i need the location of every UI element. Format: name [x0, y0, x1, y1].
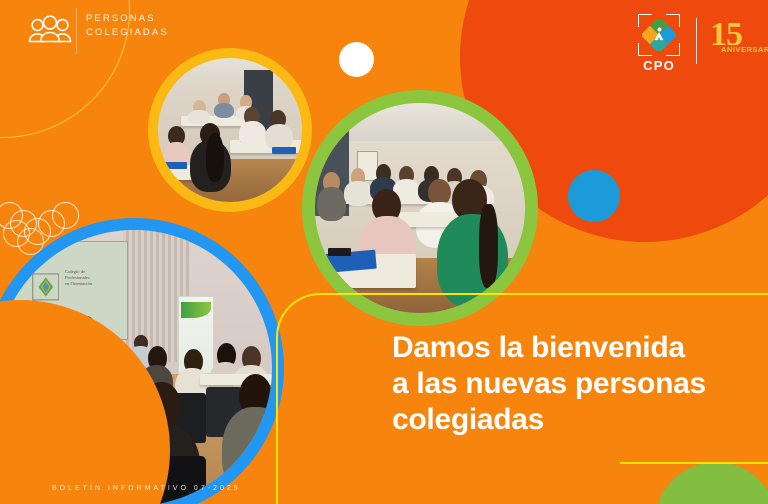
anniversary-label: ANIVERSARIO	[721, 45, 768, 54]
photo-center	[315, 103, 525, 313]
header-title: PERSONAS COLEGIADAS	[86, 12, 169, 39]
cpo-acronym: CPO	[632, 58, 686, 73]
anniversary-badge: 15 ANIVERSARIO	[710, 20, 768, 68]
outline-circles-decoration	[0, 202, 96, 268]
header-title-line2: COLEGIADAS	[86, 26, 169, 40]
bulletin-footer: BOLETÍN INFORMATIVO 07-2025	[52, 485, 241, 492]
cpo-logo: CPO	[632, 14, 686, 72]
page-title-line3: colegiadas	[392, 402, 744, 438]
people-group-icon	[26, 14, 74, 48]
page-title-line2: a las nuevas personas	[392, 366, 744, 402]
header-divider	[76, 8, 77, 54]
newsletter-cover: PERSONAS COLEGIADAS CPO 15 ANIVERSARIO	[0, 0, 768, 504]
slide-text: Colegio de Profesionales en Orientación	[65, 269, 131, 288]
cpo-diamond-logo-icon	[638, 14, 680, 56]
header-title-line1: PERSONAS	[86, 12, 169, 26]
blue-dot-decoration	[568, 170, 620, 222]
photo-top	[158, 58, 302, 202]
brand-lockup: CPO 15 ANIVERSARIO	[632, 14, 762, 76]
slide-text-line3: en Orientación	[65, 281, 131, 287]
page-title-line1: Damos la bienvenida	[392, 330, 744, 366]
page-title: Damos la bienvenida a las nuevas persona…	[392, 330, 744, 438]
brand-divider	[696, 18, 697, 64]
yellow-line-right	[620, 462, 768, 464]
